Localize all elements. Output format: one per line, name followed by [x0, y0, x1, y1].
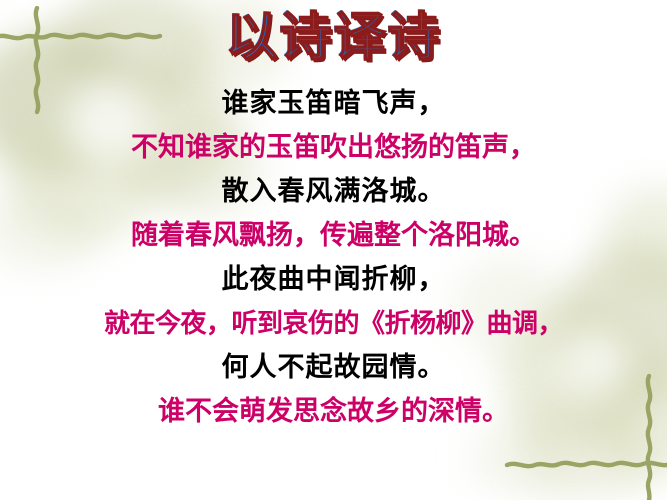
poem-body: 谁家玉笛暗飞声， 不知谁家的玉笛吹出悠扬的笛声， 散入春风满洛城。 随着春风飘扬… — [0, 82, 667, 434]
poem-line-original: 此夜曲中闻折柳， — [0, 258, 667, 302]
poem-line-original: 谁家玉笛暗飞声， — [0, 82, 667, 126]
poem-line-original: 散入春风满洛城。 — [0, 170, 667, 214]
poem-line-translation: 谁不会萌发思念故乡的深情。 — [0, 390, 667, 434]
slide-title: 以诗译诗 — [0, 8, 667, 68]
poem-line-translation: 不知谁家的玉笛吹出悠扬的笛声， — [0, 126, 667, 170]
poem-line-translation: 就在今夜，听到哀伤的《折杨柳》曲调， — [0, 302, 667, 346]
slide: 以诗译诗 谁家玉笛暗飞声， 不知谁家的玉笛吹出悠扬的笛声， 散入春风满洛城。 随… — [0, 0, 667, 500]
poem-line-translation: 随着春风飘扬，传遍整个洛阳城。 — [0, 214, 667, 258]
poem-line-original: 何人不起故园情。 — [0, 346, 667, 390]
